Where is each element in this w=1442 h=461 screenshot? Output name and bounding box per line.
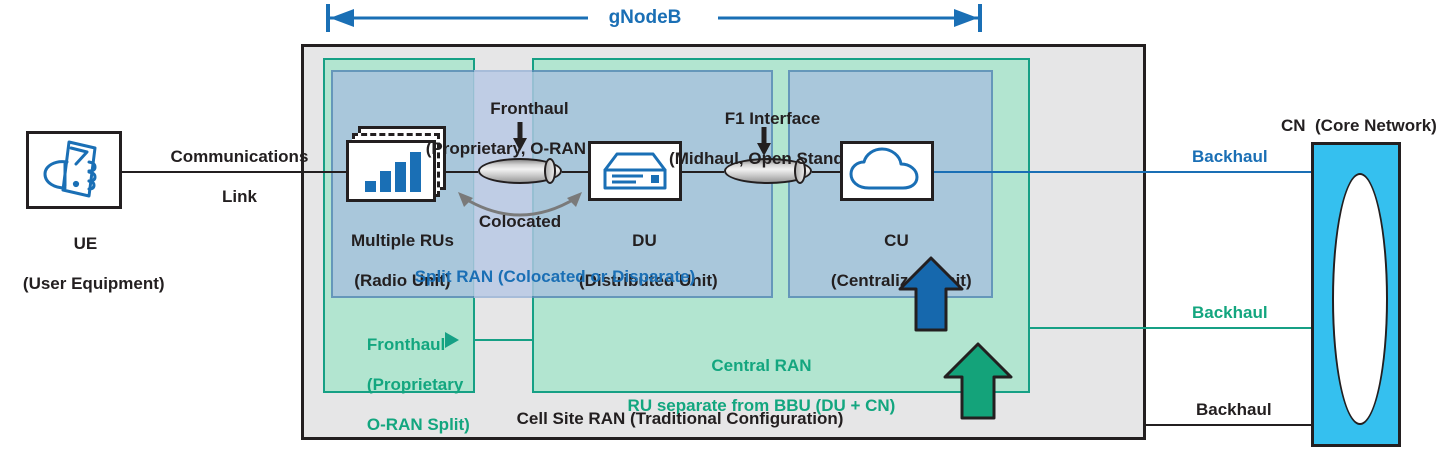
green-left-line3: O-RAN Split)	[367, 415, 470, 434]
cu-box[interactable]	[840, 141, 934, 201]
backhaul-blue-line	[930, 171, 1314, 173]
backhaul-blue-label: Backhaul	[1192, 147, 1268, 167]
backhaul-green-line	[1030, 327, 1314, 329]
hand-holding-phone-icon	[29, 134, 119, 206]
diagram-canvas: gNodeB UE	[0, 0, 1442, 461]
green-left-line1: Fronthaul	[367, 335, 445, 354]
ue-label: UE (User Equipment)	[4, 214, 148, 314]
cn-ellipse-icon	[1332, 173, 1388, 425]
du-label: DU (Distributed Unit)	[560, 211, 710, 311]
backhaul-green-label: Backhaul	[1192, 303, 1268, 323]
fronthaul-line1: Fronthaul	[490, 99, 568, 118]
fronthaul-down-arrow-icon	[512, 122, 528, 152]
ru-name: Multiple RUs	[351, 231, 454, 250]
central-ran-line1: Central RAN	[711, 356, 811, 375]
cn-label: CN (Core Network)	[1281, 116, 1437, 136]
ru-label: Multiple RUs (Radio Unit)	[328, 211, 458, 311]
blue-up-arrow-icon	[897, 255, 965, 333]
green-left-line2: (Proprietary	[367, 375, 463, 394]
gnodeb-label: gNodeB	[575, 7, 715, 29]
green-up-arrow-icon	[941, 341, 1015, 421]
cn-box[interactable]	[1311, 142, 1401, 447]
ue-name: UE	[74, 234, 98, 253]
cu-name: CU	[884, 231, 909, 250]
ue-subtitle: (User Equipment)	[23, 274, 165, 293]
du-name: DU	[632, 231, 657, 250]
fronthaul-green-label: Fronthaul (Proprietary O-RAN Split)	[348, 315, 488, 455]
communications-link-label: Communications Link	[140, 127, 320, 227]
backhaul-black-label: Backhaul	[1196, 400, 1272, 420]
f1-line1: F1 Interface	[725, 109, 820, 128]
cell-site-ran-label: Cell Site RAN (Traditional Configuration…	[510, 409, 850, 429]
comms-line2: Link	[222, 187, 257, 206]
comms-line1: Communications	[171, 147, 309, 166]
cloud-icon	[843, 144, 931, 198]
split-ran-label: Split RAN (Colocated or Disparate)	[395, 267, 715, 287]
backhaul-black-line	[1146, 424, 1314, 426]
ue-box[interactable]	[26, 131, 122, 209]
f1-down-arrow-icon	[756, 127, 772, 157]
